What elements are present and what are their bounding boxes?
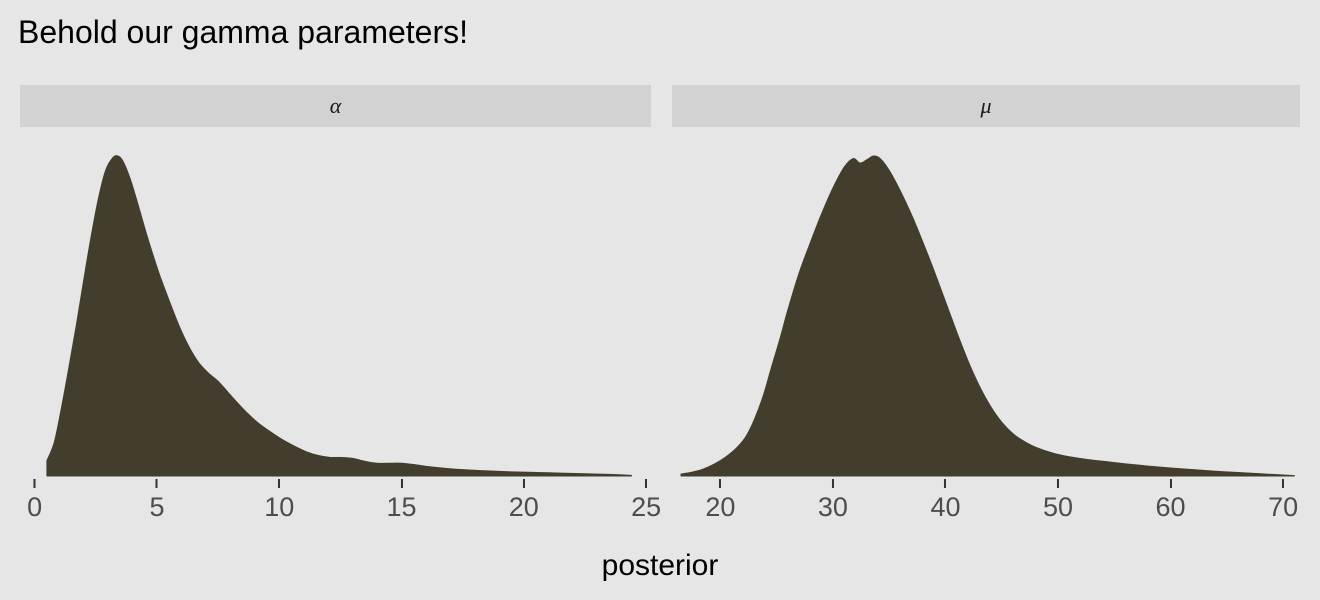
x-tick-mu-50: 50 (1043, 479, 1073, 522)
x-tick-mu-60: 60 (1156, 479, 1186, 522)
x-tick-alpha-15: 15 (386, 479, 416, 522)
x-tick-label: 40 (930, 492, 960, 522)
density-curve-mu (672, 131, 1300, 479)
x-tick-mu-40: 40 (930, 479, 960, 522)
tick-mark-icon (156, 479, 158, 488)
x-tick-label: 30 (818, 492, 848, 522)
x-tick-label: 10 (264, 492, 294, 522)
tick-mark-icon (1170, 479, 1172, 488)
facet-strip-label-mu: μ (980, 95, 991, 117)
page-title: Behold our gamma parameters! (18, 12, 468, 52)
density-area-mu (681, 156, 1294, 476)
x-tick-label: 0 (27, 492, 42, 522)
facet-strip-alpha: α (20, 85, 651, 127)
x-tick-label: 60 (1156, 492, 1186, 522)
density-panel-alpha (20, 131, 651, 479)
tick-mark-icon (278, 479, 280, 488)
tick-mark-icon (645, 479, 647, 488)
density-area-alpha (47, 156, 632, 476)
x-tick-label: 25 (631, 492, 661, 522)
x-tick-alpha-5: 5 (149, 479, 164, 522)
x-tick-mu-30: 30 (818, 479, 848, 522)
facet-strip-mu: μ (672, 85, 1300, 127)
density-curve-alpha (20, 131, 651, 479)
x-tick-label: 5 (149, 492, 164, 522)
x-tick-alpha-0: 0 (27, 479, 42, 522)
x-tick-alpha-20: 20 (509, 479, 539, 522)
x-axis-title: posterior (0, 548, 1320, 584)
x-axis-alpha: 0510152025 (20, 479, 651, 539)
facet-strip-label-alpha: α (330, 95, 342, 117)
tick-mark-icon (1057, 479, 1059, 488)
x-tick-label: 50 (1043, 492, 1073, 522)
tick-mark-icon (944, 479, 946, 488)
tick-mark-icon (523, 479, 525, 488)
x-tick-alpha-25: 25 (631, 479, 661, 522)
tick-mark-icon (401, 479, 403, 488)
tick-mark-icon (832, 479, 834, 488)
x-tick-label: 15 (386, 492, 416, 522)
x-tick-label: 70 (1268, 492, 1298, 522)
x-axis-mu: 203040506070 (672, 479, 1300, 539)
tick-mark-icon (1282, 479, 1284, 488)
plot-root: Behold our gamma parameters! α μ 0510152… (0, 0, 1320, 600)
x-tick-label: 20 (705, 492, 735, 522)
tick-mark-icon (719, 479, 721, 488)
tick-mark-icon (34, 479, 36, 488)
x-tick-mu-70: 70 (1268, 479, 1298, 522)
density-panel-mu (672, 131, 1300, 479)
x-tick-label: 20 (509, 492, 539, 522)
x-tick-alpha-10: 10 (264, 479, 294, 522)
x-tick-mu-20: 20 (705, 479, 735, 522)
